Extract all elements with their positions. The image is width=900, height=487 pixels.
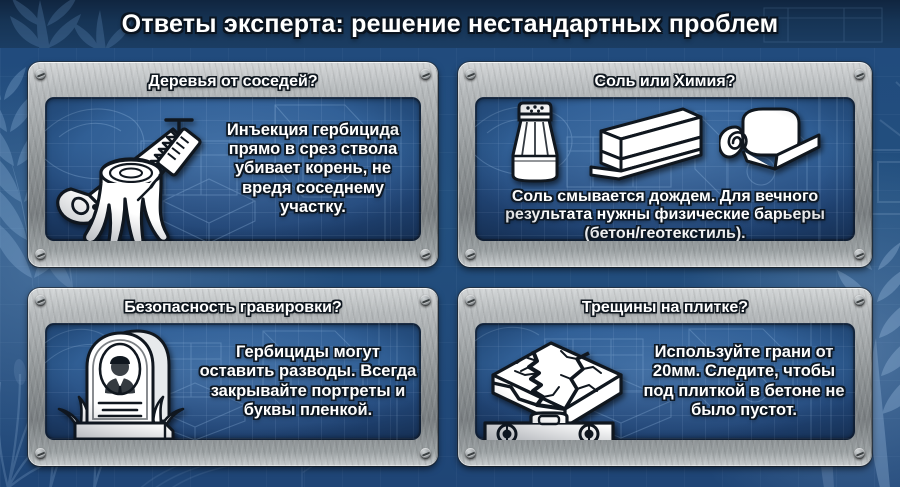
screw-bottom-right: [854, 249, 865, 260]
panel-title-trees: Деревья от соседей?: [28, 69, 438, 95]
panel-body-tile: Используйте грани от 20мм. Следите, чтоб…: [633, 343, 855, 420]
screw-bottom-left: [465, 448, 476, 459]
screw-top-right: [420, 69, 431, 80]
panel-body-engraving: Гербициды могут оставить разводы. Всегда…: [195, 343, 421, 420]
art-trees: [45, 97, 205, 241]
screw-top-left: [35, 69, 46, 80]
panel-screen-trees: Инъекция гербицида прямо в срез ствола у…: [45, 97, 421, 241]
panel-content-trees: Инъекция гербицида прямо в срез ствола у…: [45, 97, 421, 241]
concrete-curb-icon: [577, 105, 705, 185]
screw-bottom-right: [420, 249, 431, 260]
panel-content-salt: Соль смывается дождем. Для вечного резул…: [475, 97, 855, 241]
panel-body-salt: Соль смывается дождем. Для вечного резул…: [475, 188, 855, 241]
panel-content-tile: Используйте грани от 20мм. Следите, чтоб…: [475, 323, 855, 440]
infographic-canvas: Ответы эксперта: решение нестандартных п…: [0, 0, 900, 487]
screw-bottom-left: [35, 448, 46, 459]
panel-screen-salt: Соль смывается дождем. Для вечного резул…: [475, 97, 855, 241]
panel-content-engraving: Гербициды могут оставить разводы. Всегда…: [45, 323, 421, 440]
art-tile: [475, 323, 633, 440]
screw-top-left: [465, 295, 476, 306]
panel-screen-engraving: Гербициды могут оставить разводы. Всегда…: [45, 323, 421, 440]
screw-top-right: [420, 295, 431, 306]
geotextile-roll-icon: [719, 107, 823, 185]
screw-bottom-left: [465, 249, 476, 260]
panel-body-trees: Инъекция гербицида прямо в срез ствола у…: [205, 121, 421, 217]
screw-top-right: [854, 69, 865, 80]
panel-title-engraving: Безопасность гравировки?: [28, 295, 438, 321]
screw-bottom-left: [35, 249, 46, 260]
panel-title-tile: Трещины на плитке?: [458, 295, 872, 321]
panel-trees-from-neighbors[interactable]: Деревья от соседей?: [28, 62, 438, 267]
page-header: Ответы эксперта: решение нестандартных п…: [0, 0, 900, 48]
screw-top-left: [35, 295, 46, 306]
panel-title-salt: Соль или Химия?: [458, 69, 872, 95]
panel-salt-or-chemistry[interactable]: Соль или Химия?: [458, 62, 872, 267]
screw-top-right: [854, 295, 865, 306]
panel-engraving-safety[interactable]: Безопасность гравировки?: [28, 288, 438, 466]
salt-shaker-icon: [507, 99, 563, 185]
page-title: Ответы эксперта: решение нестандартных п…: [0, 0, 900, 48]
panel-screen-tile: Используйте грани от 20мм. Следите, чтоб…: [475, 323, 855, 440]
screw-bottom-right: [854, 448, 865, 459]
screw-top-left: [465, 69, 476, 80]
art-gravestone: [45, 323, 195, 440]
art-salt-row: [507, 99, 823, 185]
screw-bottom-right: [420, 448, 431, 459]
panel-cracks-on-tile[interactable]: Трещины на плитке?: [458, 288, 872, 466]
